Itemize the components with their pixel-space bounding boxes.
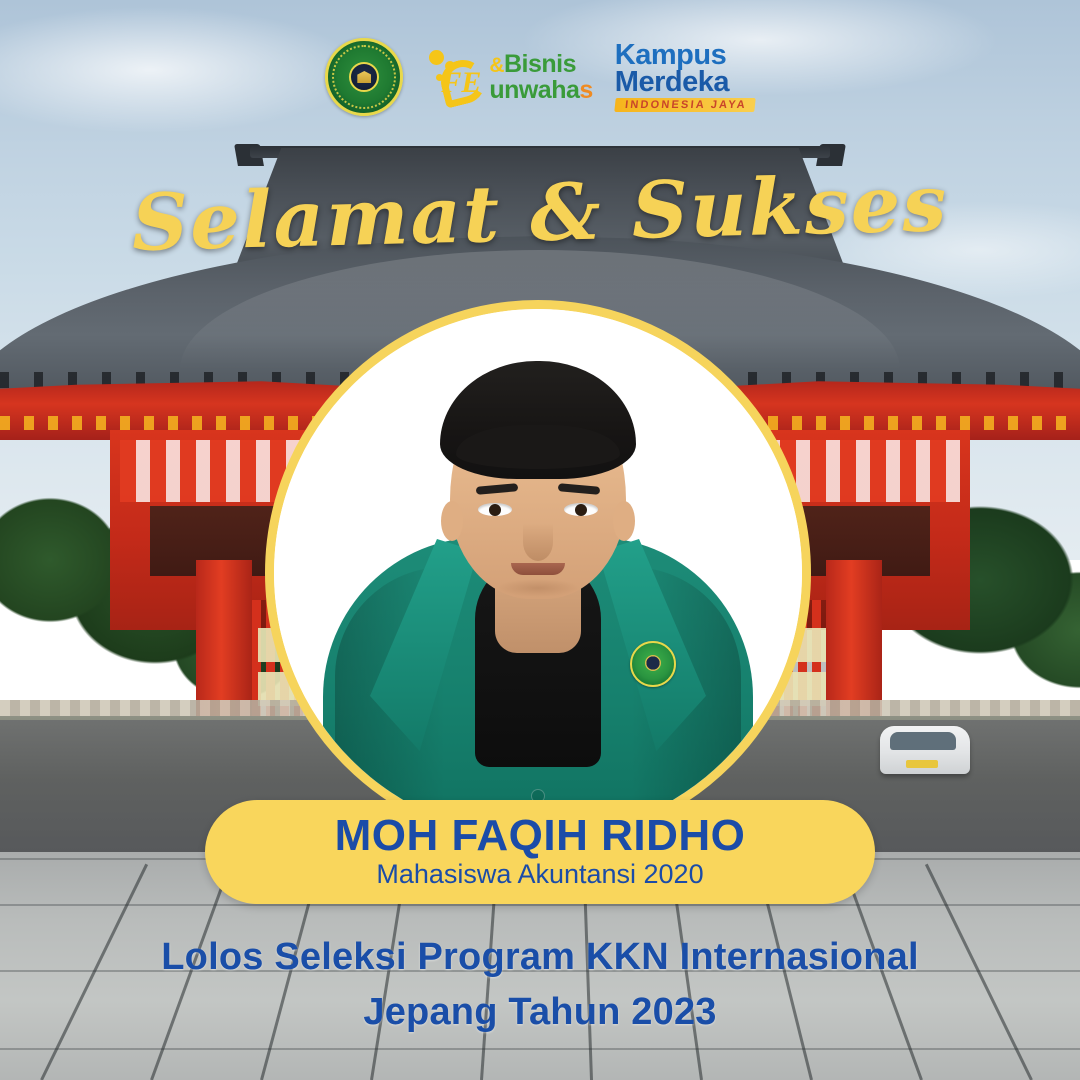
congratulations-poster: FE &Bisnis unwahas Kampus Merdeka INDONE… — [0, 0, 1080, 1080]
indonesia-jaya-tagline: INDONESIA JAYA — [614, 98, 755, 112]
hair-fringe — [456, 425, 620, 469]
university-seal-badge-icon — [630, 641, 676, 687]
merdeka-label: Merdeka — [615, 69, 755, 96]
feb-bisnis-unwahas-logo: FE &Bisnis unwahas — [425, 48, 592, 106]
kampus-label: Kampus — [615, 42, 755, 69]
eye-left — [478, 503, 512, 516]
white-car — [880, 726, 970, 774]
feb-line-2: unwahas — [489, 78, 592, 103]
feb-mark-letters: FE — [441, 66, 481, 100]
logo-row: FE &Bisnis unwahas Kampus Merdeka INDONE… — [0, 38, 1080, 116]
eye-right — [564, 503, 598, 516]
feb-unwahas-tail: s — [579, 76, 592, 104]
achievement-line-1: Lolos Seleksi Program KKN Internasional — [161, 936, 918, 978]
chin-shadow — [496, 579, 580, 597]
kampus-merdeka-logo: Kampus Merdeka INDONESIA JAYA — [615, 42, 755, 111]
face — [450, 373, 626, 599]
university-seal-logo — [325, 38, 403, 116]
feb-bisnis-label: Bisnis — [504, 50, 576, 78]
eyebrow-right — [558, 483, 601, 495]
achievement-line-2: Jepang Tahun 2023 — [0, 985, 1080, 1040]
achievement-text: Lolos Seleksi Program KKN Internasional … — [0, 930, 1080, 1040]
student-portrait — [274, 309, 802, 837]
feb-line-1: &Bisnis — [489, 52, 592, 77]
student-program: Mahasiswa Akuntansi 2020 — [376, 859, 703, 890]
mouth — [511, 563, 565, 575]
ear-left — [441, 501, 463, 541]
student-name: MOH FAQIH RIDHO — [335, 814, 746, 859]
eyebrow-left — [476, 483, 519, 495]
portrait-circle-frame — [265, 300, 811, 846]
nose — [523, 523, 553, 561]
name-banner: MOH FAQIH RIDHO Mahasiswa Akuntansi 2020 — [205, 800, 875, 904]
feb-unwaha-label: unwaha — [489, 76, 579, 104]
ampersand-glyph: & — [489, 54, 504, 77]
feb-bisnis-icon: FE — [425, 48, 487, 106]
ear-right — [613, 501, 635, 541]
